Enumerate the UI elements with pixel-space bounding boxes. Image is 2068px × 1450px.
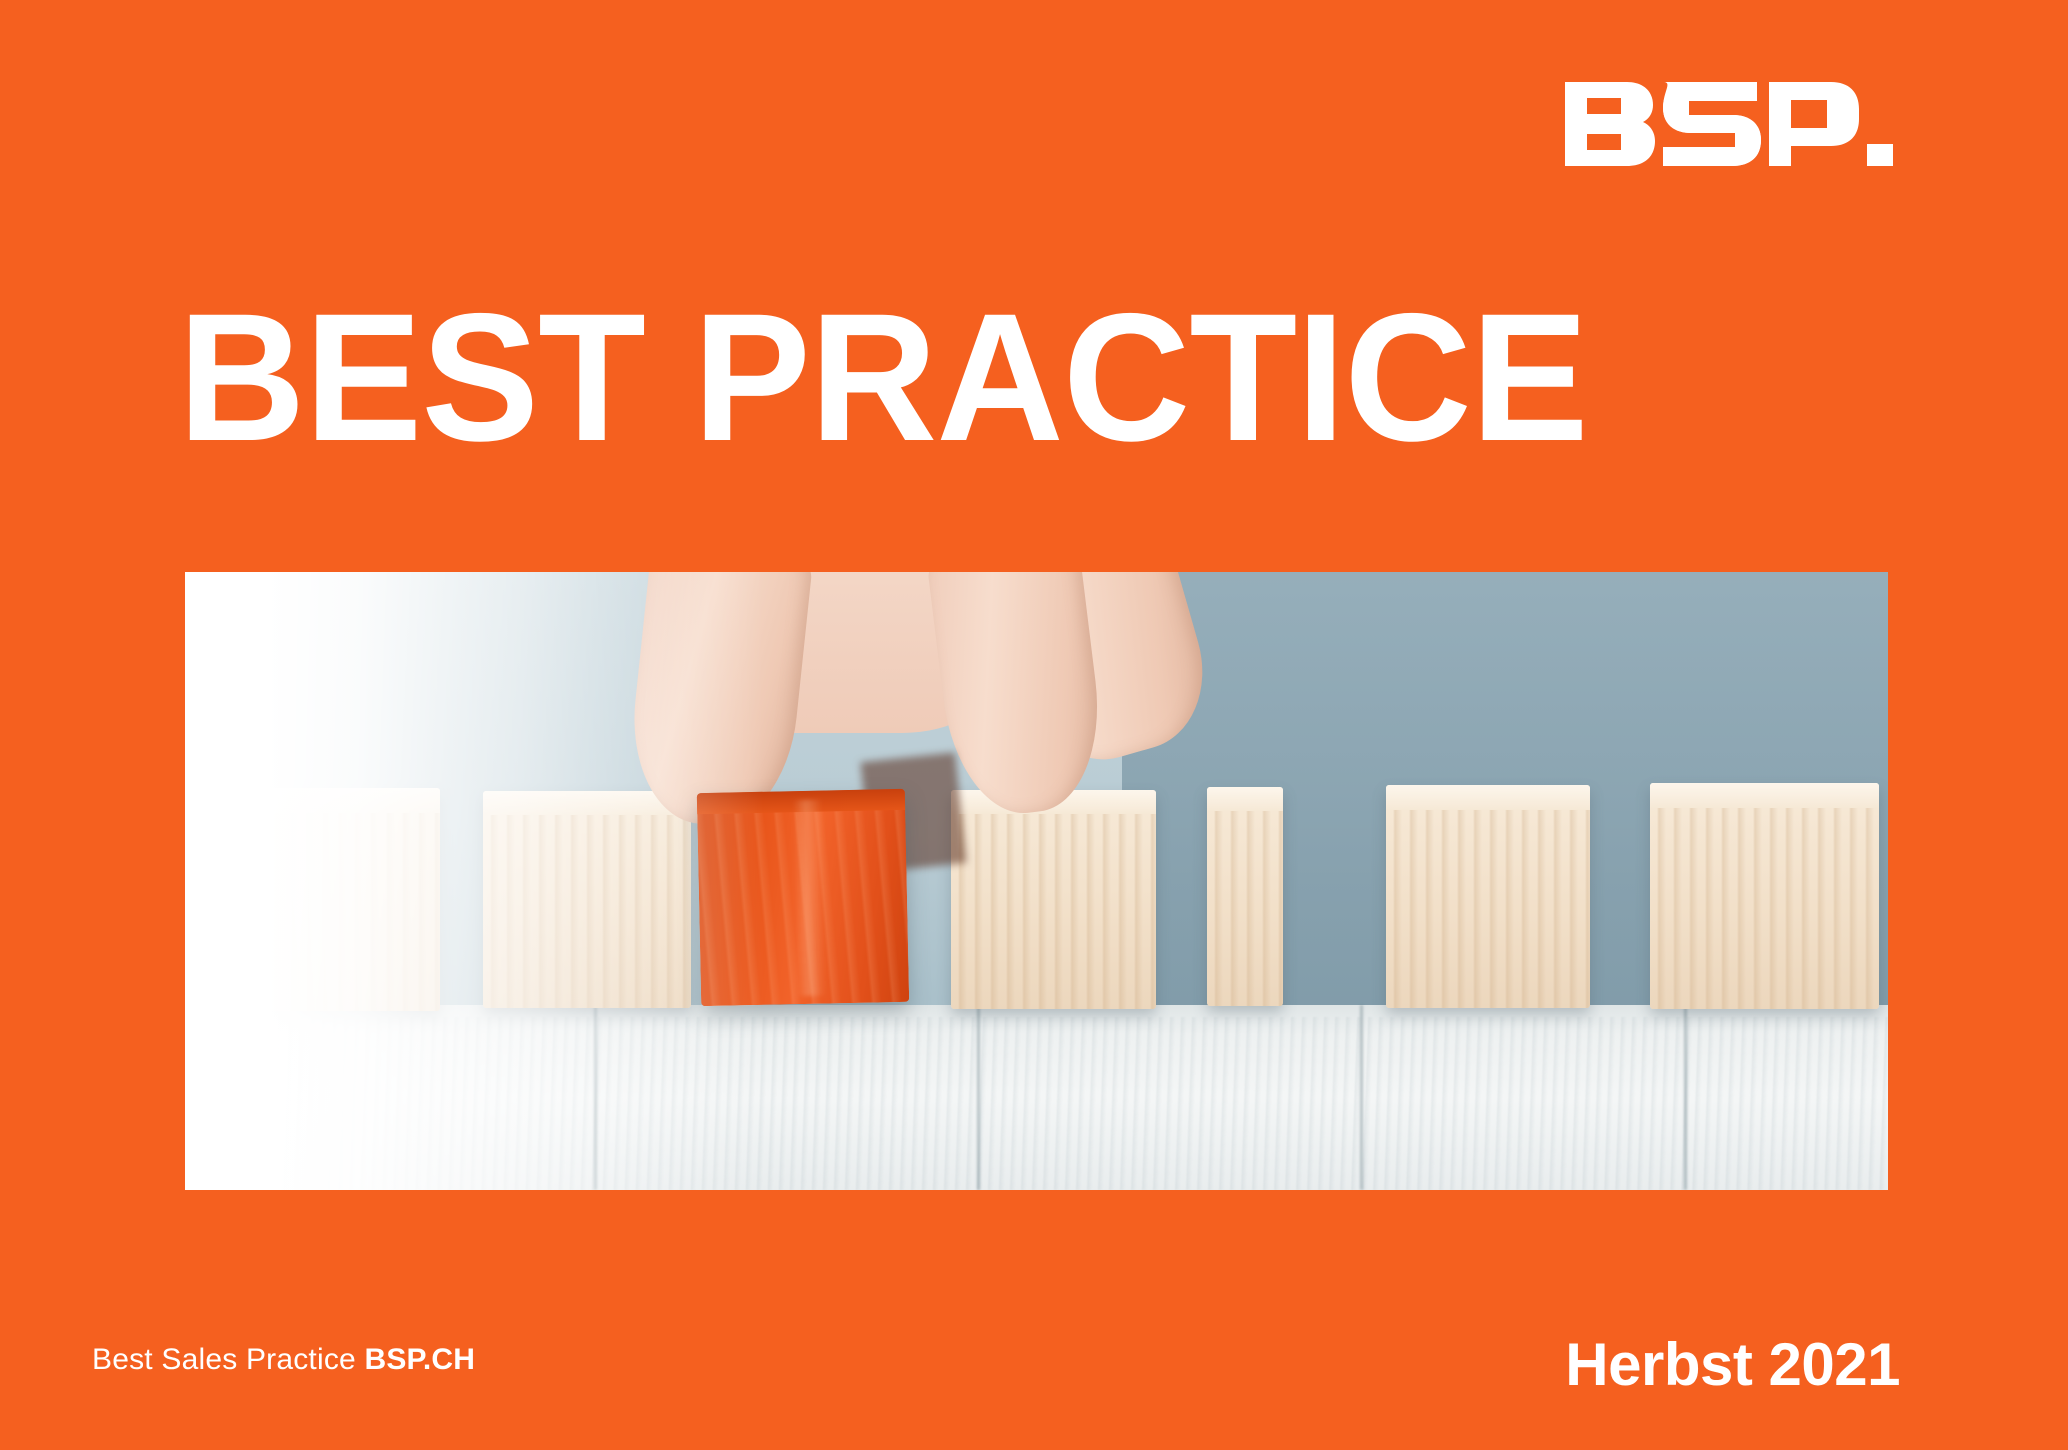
orange-cube-highlight [793,799,826,996]
footer-season: Herbst 2021 [1565,1330,1900,1399]
footer-site-link[interactable]: BSP.CH [364,1343,475,1376]
hero-photo [185,572,1888,1190]
footer-tagline-text: Best Sales Practice [92,1343,364,1376]
footer-tagline: Best Sales Practice BSP.CH [92,1343,475,1377]
page-title: BEST PRACTICE [178,286,1588,468]
presentation-slide: BEST PRACTICE [0,0,2068,1450]
bsp-logo[interactable] [1565,82,1915,172]
photo-left-fade [185,572,764,1190]
